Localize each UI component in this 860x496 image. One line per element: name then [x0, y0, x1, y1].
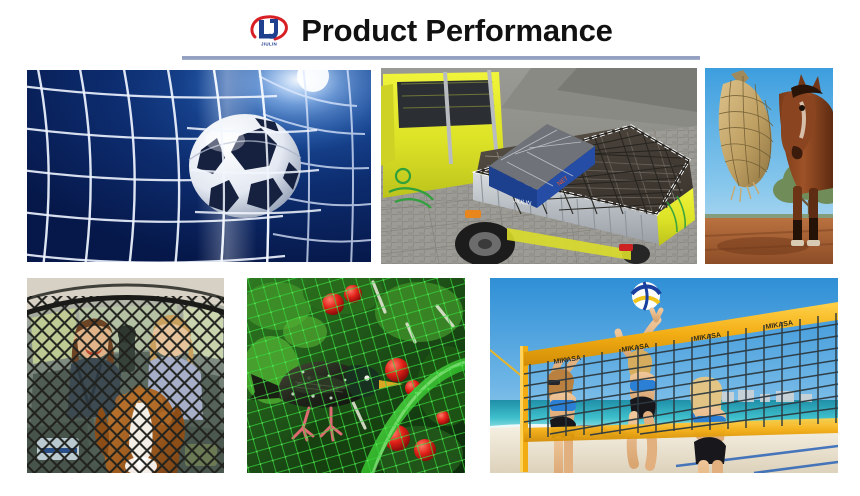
page-title: Product Performance: [301, 14, 612, 48]
title-row: JIULIN Product Performance: [0, 8, 860, 54]
jiulin-logo: JIULIN: [247, 14, 291, 48]
soccer-goal-net-photo: [27, 70, 371, 262]
page-header: JIULIN Product Performance: [0, 0, 860, 62]
garden-bird-net-photo: [247, 278, 465, 473]
car-pet-barrier-net-photo: [27, 278, 224, 473]
svg-text:JIULIN: JIULIN: [261, 42, 277, 47]
truck-cargo-net-photo: JIULIN NET: [381, 68, 697, 264]
horse-hay-net-photo: [705, 68, 833, 264]
beach-volleyball-net-photo: MIKASA MIKASA MIKASA MIKASA: [490, 278, 838, 473]
title-underline-rule: [182, 56, 700, 60]
